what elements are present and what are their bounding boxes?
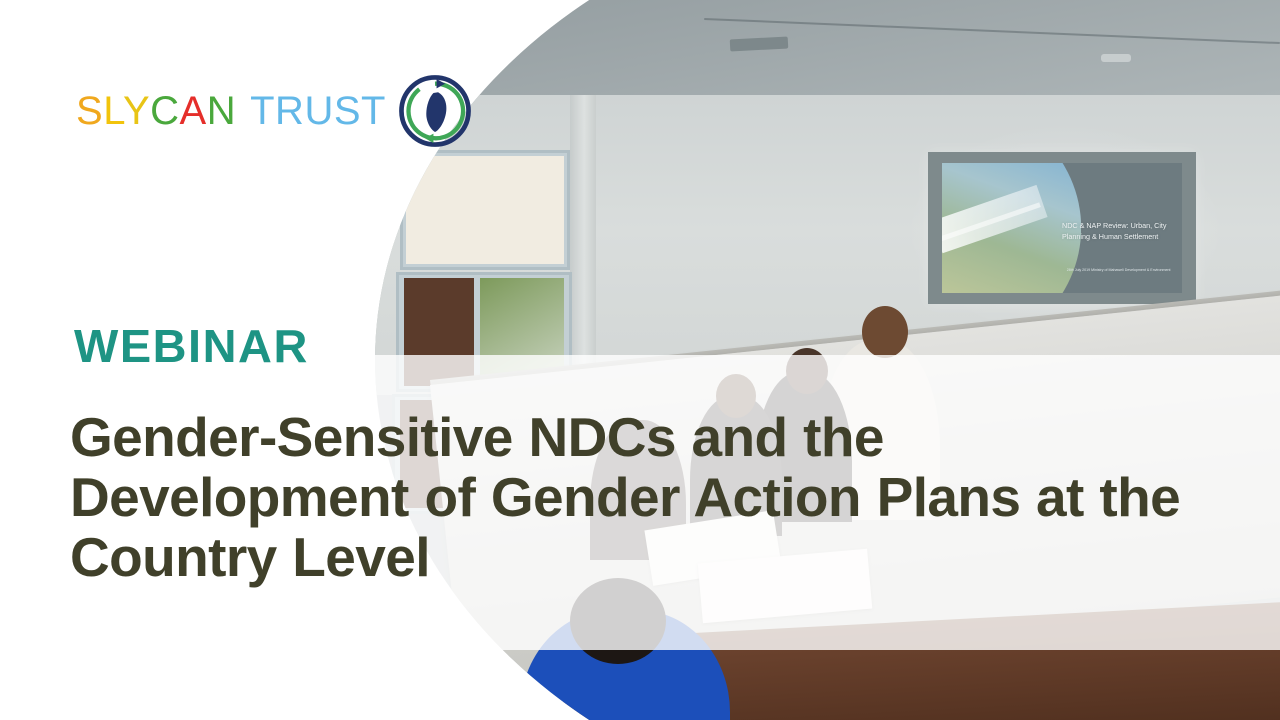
projector-screen-2: NDC & NAP Review: Urban, City Planning &… xyxy=(928,152,1196,304)
ceiling-seam xyxy=(704,18,1280,44)
projector-slide-subtitle-2: 28th July 2019 Ministry of Mahaweli Deve… xyxy=(1067,267,1177,273)
slycan-trust-logo[interactable]: SLYCANTRUST xyxy=(76,72,474,150)
person-standing-head xyxy=(862,306,908,358)
logo-letter-y: Y xyxy=(123,89,150,133)
logo-wordmark: SLYCANTRUST xyxy=(76,91,386,131)
projector-slide-title-2: NDC & NAP Review: Urban, City Planning &… xyxy=(1062,220,1175,242)
webinar-promo-slide: NDC & NAP Review: Urban, City Planning &… xyxy=(0,0,1280,720)
logo-letter-c: C xyxy=(150,89,179,133)
wall-column xyxy=(570,95,596,395)
page-title: Gender-Sensitive NDCs and the Developmen… xyxy=(70,408,1230,588)
window-pane xyxy=(406,156,564,264)
logo-word-trust: TRUST xyxy=(250,89,386,133)
kicker-webinar: WEBINAR xyxy=(74,323,309,369)
ceiling-vent xyxy=(729,36,788,51)
slide-aerial-photo-2 xyxy=(942,163,1081,293)
ceiling-light xyxy=(1101,54,1131,62)
logo-letter-n: N xyxy=(207,89,236,133)
logo-letter-l: L xyxy=(103,89,123,133)
slycan-circular-mark-icon xyxy=(396,72,474,150)
logo-letter-s: S xyxy=(76,89,103,133)
projected-slide-2: NDC & NAP Review: Urban, City Planning &… xyxy=(942,163,1182,293)
logo-letter-a: A xyxy=(180,89,207,133)
window-upper xyxy=(400,150,570,270)
